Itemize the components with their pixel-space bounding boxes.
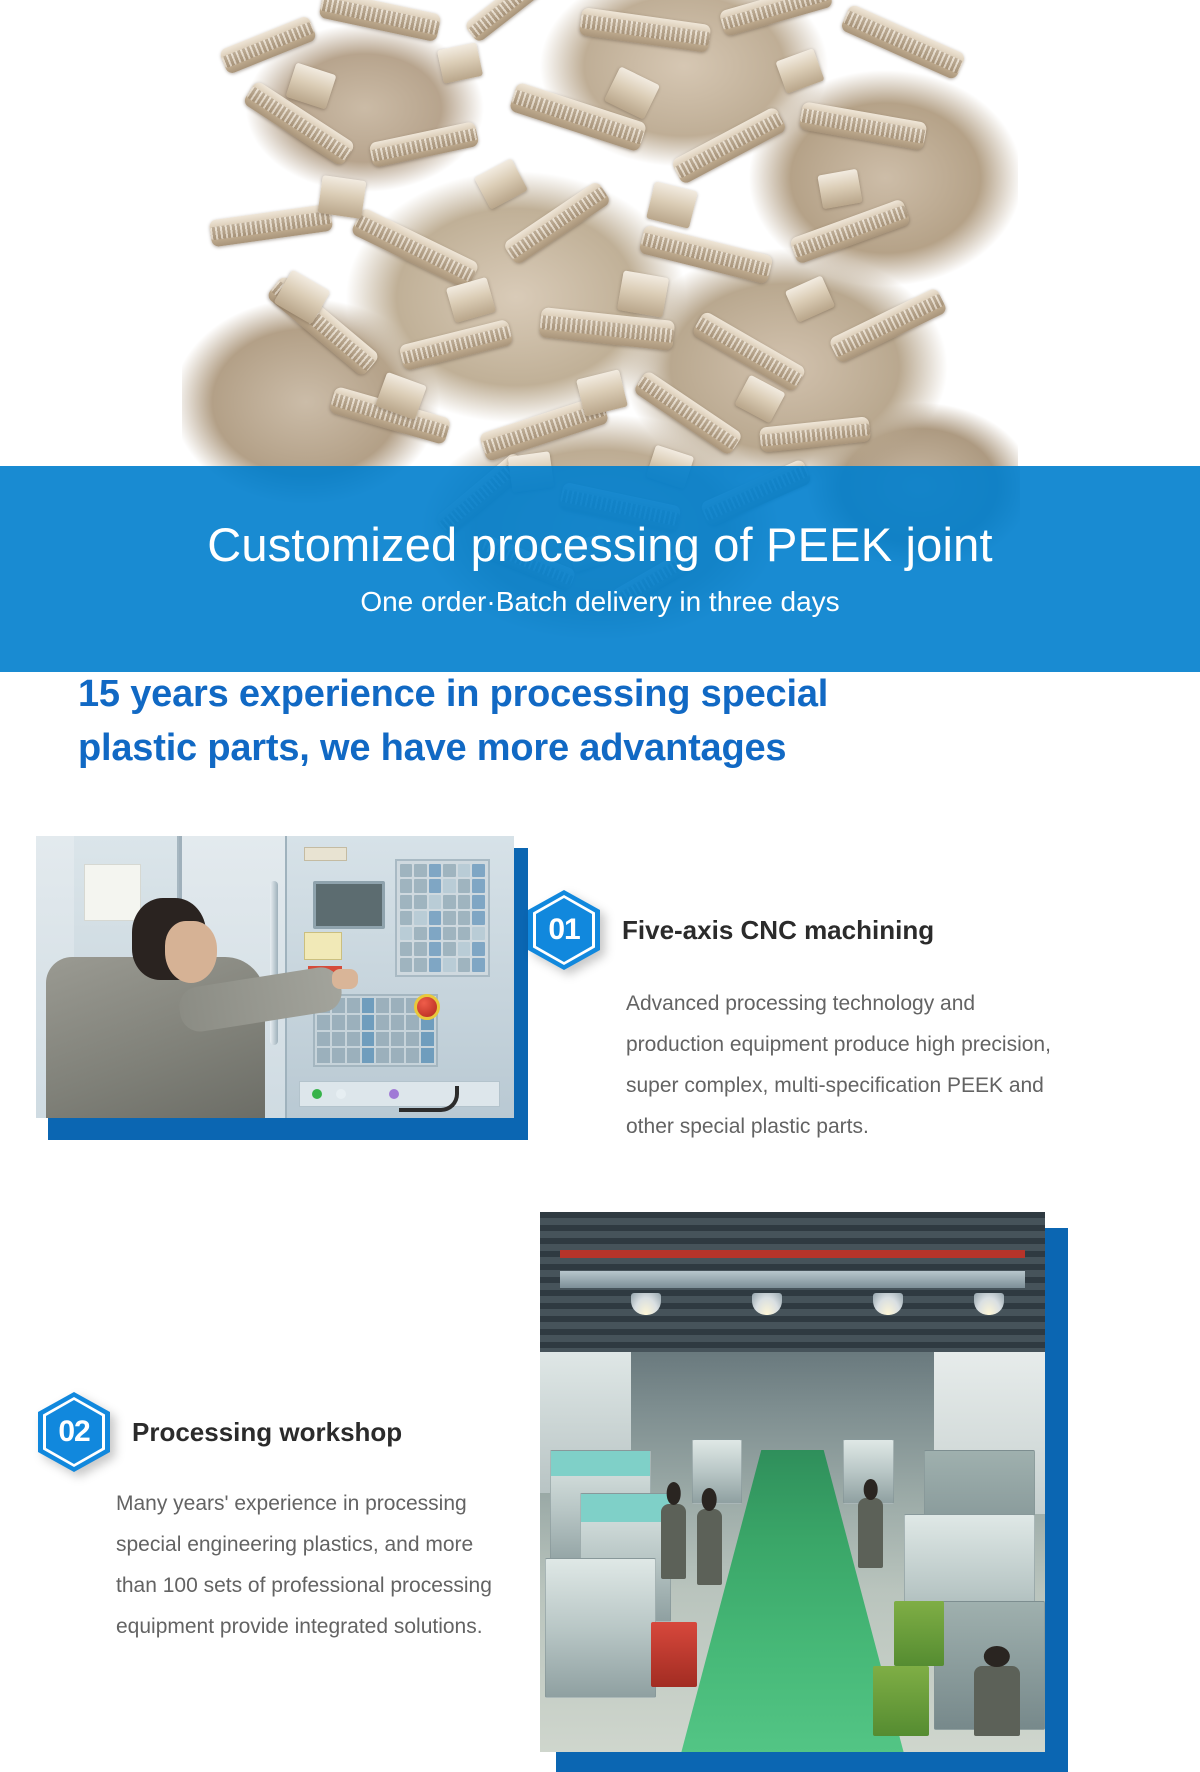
feature-01-title: Five-axis CNC machining: [622, 915, 934, 946]
feature-01-body: Advanced processing technology and produ…: [626, 984, 1066, 1148]
product-detail-page: Customized processing of PEEK joint One …: [0, 0, 1200, 1772]
feature-01-photo: [36, 836, 514, 1118]
hero-left-margin: [0, 0, 182, 466]
hero-section: Customized processing of PEEK joint One …: [0, 0, 1200, 672]
feature-01-block: 01 Five-axis CNC machining Advanced proc…: [528, 890, 1068, 1148]
workshop-image: [540, 1212, 1045, 1752]
section-headline: 15 years experience in processing specia…: [78, 668, 1078, 776]
hexagon-badge-icon: 01: [528, 890, 600, 970]
feature-01-image-frame: [36, 836, 516, 1128]
feature-02-block: 02 Processing workshop Many years' exper…: [38, 1392, 518, 1648]
hexagon-badge-icon: 02: [38, 1392, 110, 1472]
feature-02-title: Processing workshop: [132, 1417, 402, 1448]
hero-banner: Customized processing of PEEK joint One …: [0, 466, 1200, 672]
banner-title: Customized processing of PEEK joint: [207, 520, 992, 569]
feature-02-photo: [540, 1212, 1045, 1752]
banner-subtitle: One order·Batch delivery in three days: [360, 586, 839, 618]
cnc-operator-image: [36, 836, 514, 1118]
headline-line-2: plastic parts, we have more advantages: [78, 727, 786, 769]
headline-line-1: 15 years experience in processing specia…: [78, 673, 828, 715]
feature-02-image-frame: [540, 1212, 1040, 1772]
hero-right-margin: [1018, 0, 1200, 466]
feature-02-number: 02: [38, 1392, 110, 1472]
feature-01-number: 01: [528, 890, 600, 970]
feature-02-body: Many years' experience in processing spe…: [116, 1484, 516, 1648]
